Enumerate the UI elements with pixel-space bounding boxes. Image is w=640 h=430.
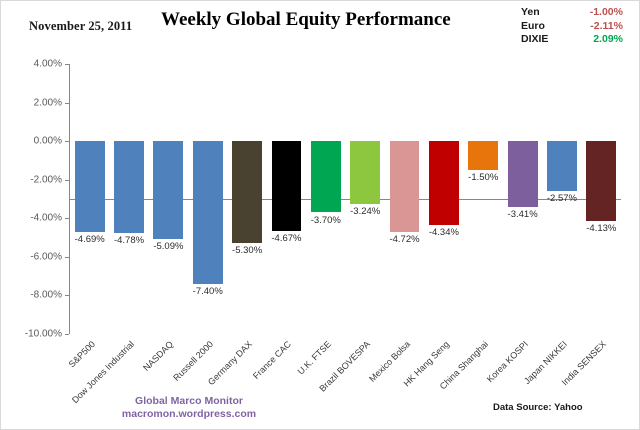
bar-value-label: -3.70% xyxy=(311,215,341,226)
watermark-line-1: Global Marco Monitor xyxy=(99,395,279,408)
plot-area: 4.00%2.00%0.00%-2.00%-4.00%-6.00%-8.00%-… xyxy=(69,64,621,334)
bar-group[interactable]: -4.34% xyxy=(424,64,463,334)
bar[interactable] xyxy=(350,141,380,203)
chart-title: Weekly Global Equity Performance xyxy=(161,9,421,31)
bar[interactable] xyxy=(390,141,420,232)
bar-group[interactable]: -2.57% xyxy=(542,64,581,334)
bar-group[interactable]: -4.13% xyxy=(582,64,621,334)
bar-group[interactable]: -3.70% xyxy=(306,64,345,334)
y-axis-tick-mark xyxy=(65,295,69,296)
bar-value-label: -7.40% xyxy=(193,286,223,297)
bar-value-label: -5.09% xyxy=(153,241,183,252)
y-axis-tick-mark xyxy=(65,334,69,335)
watermark: Global Marco Monitor macromon.wordpress.… xyxy=(99,395,279,421)
date-label: November 25, 2011 xyxy=(29,19,132,34)
y-axis-tick-mark xyxy=(65,257,69,258)
bar[interactable] xyxy=(547,141,577,191)
y-axis-tick-mark xyxy=(65,141,69,142)
bar-group[interactable]: -3.24% xyxy=(346,64,385,334)
bar[interactable] xyxy=(468,141,498,170)
y-axis-tick-mark xyxy=(65,180,69,181)
bar-group[interactable]: -4.69% xyxy=(70,64,109,334)
fx-value: -2.11% xyxy=(590,20,629,34)
bar-value-label: -4.67% xyxy=(271,233,301,244)
bar-group[interactable]: -4.78% xyxy=(109,64,148,334)
fx-row: Yen-1.00% xyxy=(521,6,629,20)
fx-value: 2.09% xyxy=(593,33,629,47)
bar-value-label: -4.13% xyxy=(586,223,616,234)
bar-group[interactable]: -7.40% xyxy=(188,64,227,334)
bars-layer: -4.69%-4.78%-5.09%-7.40%-5.30%-4.67%-3.7… xyxy=(70,64,621,334)
bar-value-label: -4.34% xyxy=(429,227,459,238)
bar-group[interactable]: -3.41% xyxy=(503,64,542,334)
bar-value-label: -4.78% xyxy=(114,235,144,246)
bar[interactable] xyxy=(75,141,105,231)
bar[interactable] xyxy=(153,141,183,239)
chart-page: November 25, 2011 Weekly Global Equity P… xyxy=(0,0,640,430)
bar[interactable] xyxy=(311,141,341,212)
bar-value-label: -3.24% xyxy=(350,206,380,217)
bar-group[interactable]: -5.30% xyxy=(227,64,266,334)
category-label: S&P500 xyxy=(66,339,96,369)
bar-group[interactable]: -4.67% xyxy=(267,64,306,334)
bar-group[interactable]: -1.50% xyxy=(464,64,503,334)
bar-value-label: -5.30% xyxy=(232,245,262,256)
bar[interactable] xyxy=(586,141,616,221)
bar-value-label: -3.41% xyxy=(508,209,538,220)
bar[interactable] xyxy=(114,141,144,233)
fx-row: DIXIE2.09% xyxy=(521,33,629,47)
bar[interactable] xyxy=(232,141,262,243)
bar-group[interactable]: -5.09% xyxy=(149,64,188,334)
fx-legend-box: Yen-1.00%Euro-2.11%DIXIE2.09% xyxy=(515,3,633,51)
y-axis-tick-label: -6.00% xyxy=(30,251,62,262)
bar-value-label: -2.57% xyxy=(547,193,577,204)
bar-value-label: -4.69% xyxy=(75,234,105,245)
y-axis-tick-label: -4.00% xyxy=(30,213,62,224)
data-source-note: Data Source: Yahoo xyxy=(493,402,583,413)
fx-name: Yen xyxy=(521,6,540,20)
fx-name: DIXIE xyxy=(521,33,548,47)
bar[interactable] xyxy=(429,141,459,225)
bar-group[interactable]: -4.72% xyxy=(385,64,424,334)
y-axis-tick-label: 0.00% xyxy=(34,136,62,147)
category-axis-labels: S&P500Dow Jones IndustrialNASDAQRussell … xyxy=(70,335,621,397)
y-axis-tick-label: 4.00% xyxy=(34,59,62,70)
fx-name: Euro xyxy=(521,20,545,34)
y-axis-tick-mark xyxy=(65,103,69,104)
bar[interactable] xyxy=(272,141,302,231)
y-axis-tick-label: -8.00% xyxy=(30,290,62,301)
y-axis-tick-label: 2.00% xyxy=(34,97,62,108)
y-axis-tick-label: -10.00% xyxy=(25,329,62,340)
category-tick: India SENSEX xyxy=(582,335,621,397)
fx-value: -1.00% xyxy=(590,6,629,20)
bar[interactable] xyxy=(508,141,538,207)
watermark-line-2: macromon.wordpress.com xyxy=(99,408,279,421)
y-axis-tick-mark xyxy=(65,218,69,219)
bar-value-label: -1.50% xyxy=(468,172,498,183)
fx-row: Euro-2.11% xyxy=(521,20,629,34)
y-axis-tick-label: -2.00% xyxy=(30,174,62,185)
bar-value-label: -4.72% xyxy=(389,234,419,245)
y-axis-tick-mark xyxy=(65,64,69,65)
bar[interactable] xyxy=(193,141,223,284)
